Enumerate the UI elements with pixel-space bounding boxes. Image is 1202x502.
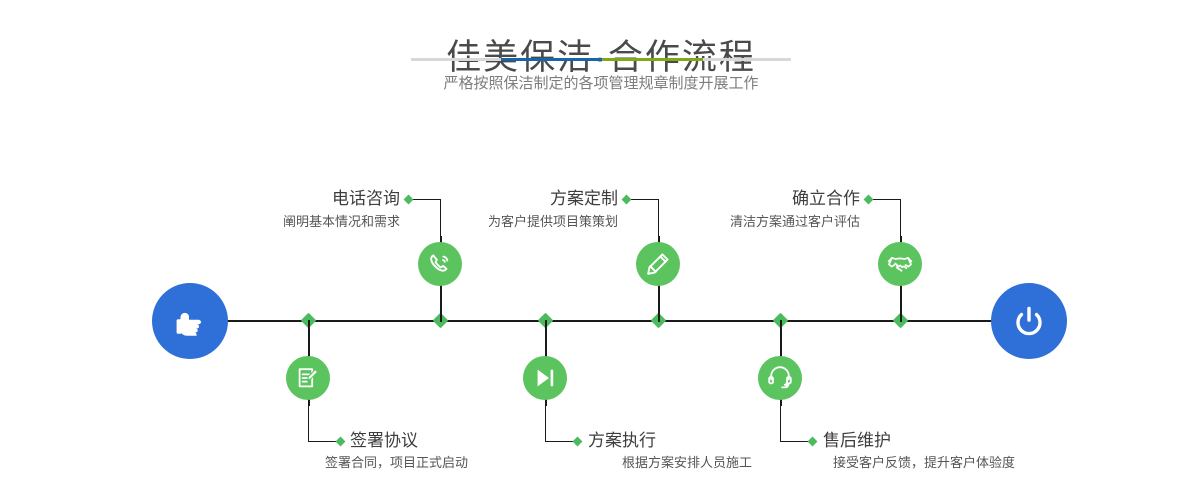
callout-leader-horizontal xyxy=(871,199,901,200)
step-icon-customer-service[interactable] xyxy=(758,356,802,400)
step-desc: 接受客户反馈，提升客户体验度 xyxy=(833,453,1015,473)
callout-leader-vertical xyxy=(780,405,781,442)
pencil-edit-icon xyxy=(644,250,672,278)
callout-leader-vertical xyxy=(900,199,901,237)
timeline-start-endpoint[interactable] xyxy=(152,283,228,359)
handshake-icon xyxy=(886,250,914,278)
pointing-hand-icon xyxy=(168,299,212,343)
customer-service-add-icon xyxy=(766,364,794,392)
step-icon-phone-call[interactable] xyxy=(418,242,462,286)
step-desc: 清洁方案通过客户评估 xyxy=(585,212,860,232)
step-title: 售后维护 xyxy=(823,430,891,452)
callout-tip-marker xyxy=(808,437,818,447)
step-icon-document-sign[interactable] xyxy=(286,356,330,400)
step-icon-handshake[interactable] xyxy=(878,242,922,286)
divider-green-segment xyxy=(602,58,703,61)
callout-tip-marker xyxy=(336,437,346,447)
step-icon-pencil-edit[interactable] xyxy=(636,242,680,286)
play-skip-icon xyxy=(531,364,559,392)
power-icon xyxy=(1007,299,1051,343)
page-subtitle: 严格按照保洁制定的各项管理规章制度开展工作 xyxy=(0,72,1202,96)
step-title: 方案执行 xyxy=(588,430,656,452)
document-sign-icon xyxy=(294,364,322,392)
callout-leader-vertical xyxy=(545,405,546,442)
step-desc: 为客户提供项目策策划 xyxy=(343,212,618,232)
step-title: 方案定制 xyxy=(343,188,618,210)
step-title: 签署协议 xyxy=(350,430,418,452)
phone-call-icon xyxy=(426,250,454,278)
callout-tip-marker xyxy=(573,437,583,447)
divider-blue-segment xyxy=(501,58,602,61)
callout-tip-marker xyxy=(864,195,874,205)
step-title: 确立合作 xyxy=(585,188,860,210)
step-desc: 根据方案安排人员施工 xyxy=(622,453,752,473)
step-icon-play-skip[interactable] xyxy=(523,356,567,400)
flow-diagram-page: 佳美保洁·合作流程 严格按照保洁制定的各项管理规章制度开展工作 xyxy=(0,0,1202,502)
timeline-end-endpoint[interactable] xyxy=(991,283,1067,359)
step-desc: 签署合同，项目正式启动 xyxy=(325,453,468,473)
title-divider xyxy=(411,58,791,61)
callout-leader-vertical xyxy=(308,405,309,442)
